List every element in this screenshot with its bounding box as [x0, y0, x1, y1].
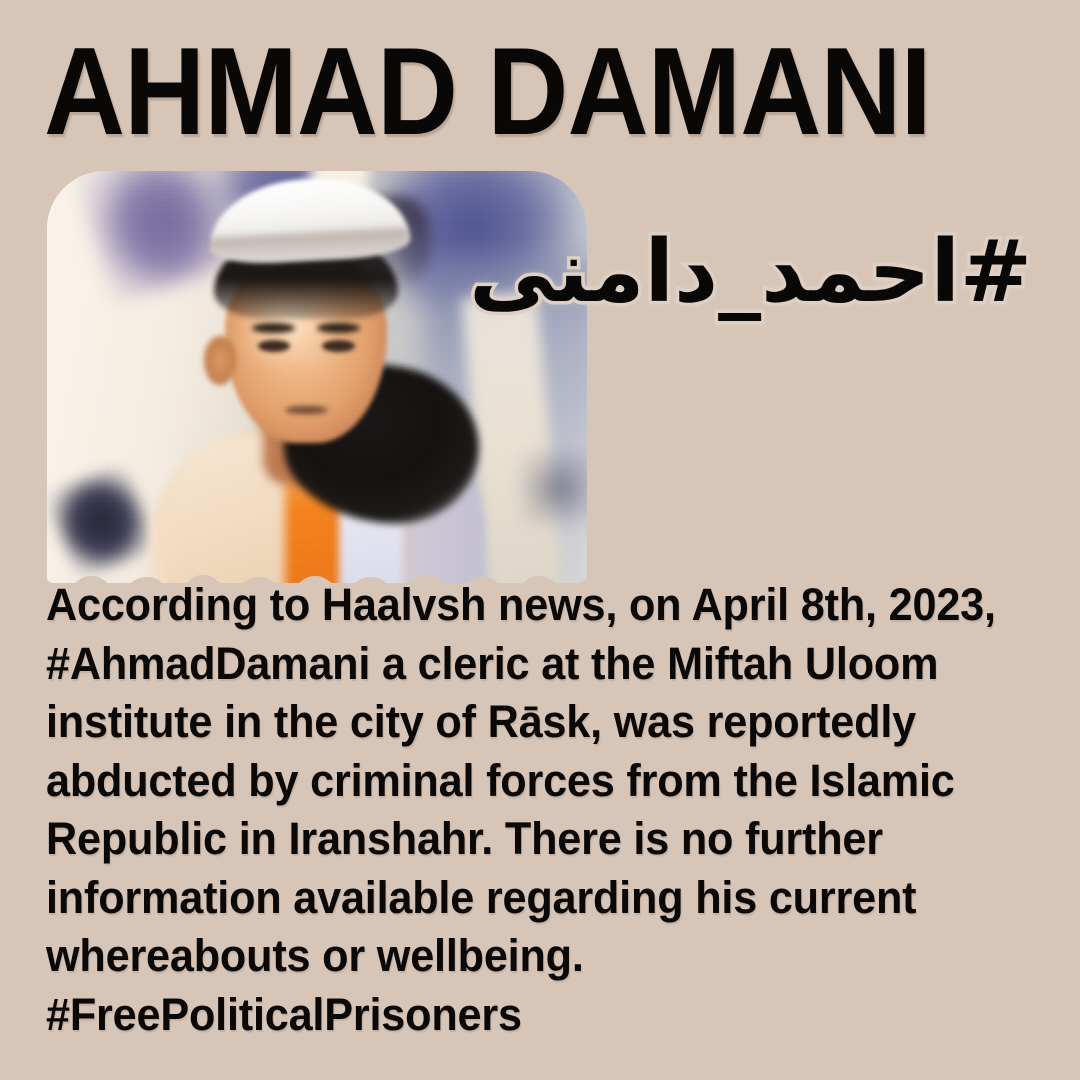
body-line: information available regarding his curr… [46, 869, 1002, 928]
page-title: AHMAD DAMANI [44, 34, 940, 150]
body-line: According to Haalvsh news, on April 8th,… [46, 576, 1002, 635]
body-line: abducted by criminal forces from the Isl… [46, 752, 1002, 811]
body-line: institute in the city of Rāsk, was repor… [46, 693, 1002, 752]
body-paragraph: According to Haalvsh news, on April 8th,… [46, 576, 1042, 1044]
poster-canvas: AHMAD DAMANI [0, 0, 1080, 1080]
body-line: Republic in Iranshahr. There is no furth… [46, 810, 1002, 869]
persian-hashtag: #احمد_دامنی [469, 222, 1032, 322]
body-line: whereabouts or wellbeing. [46, 927, 1002, 986]
body-line: #AhmadDamani a cleric at the Miftah Uloo… [46, 635, 1002, 694]
body-line-hashtag: #FreePoliticalPrisoners [46, 986, 1002, 1045]
